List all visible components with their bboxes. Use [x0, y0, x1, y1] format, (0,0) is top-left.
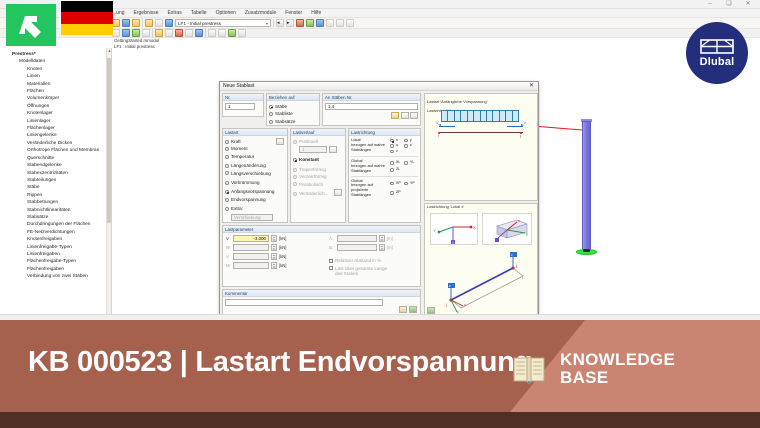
toolbar2-separator-2 — [205, 29, 206, 37]
printpreview-icon[interactable] — [155, 19, 163, 27]
navigator-item[interactable]: Stabendgelenke — [0, 162, 111, 169]
lastrichtung-label: YL — [410, 160, 415, 165]
lastart-options[interactable]: KraftMomentTemperaturLängenänderungLängs… — [223, 136, 287, 222]
beam-segments — [441, 110, 519, 122]
lastverlauf-option[interactable]: Punktuell — [293, 138, 343, 145]
lastparameter-legend: Lastparameter — [223, 226, 420, 233]
lastrichtung-group-2: Global bezogen auf projizierte Stablänge… — [351, 176, 418, 198]
dlubal-logo-badge: Dlubal — [686, 22, 748, 84]
lastparameter-checkbox[interactable]: Last über gesamte Länge des Stabes — [329, 266, 417, 277]
lastart-option[interactable]: Extra: — [225, 205, 285, 212]
lastart-label: Moment — [231, 145, 248, 152]
lastparameter-value-input[interactable] — [233, 253, 269, 260]
lastart-radio-dot — [225, 164, 229, 168]
lastrichtung-radio-dot — [404, 139, 407, 142]
load-direction-caption: Lastrichtung 'Lokal x' — [427, 205, 464, 210]
lastrichtung-radio-dot — [404, 144, 407, 147]
lastverlauf-radio-dot — [293, 175, 297, 179]
lastrichtung-radio-dot — [390, 168, 393, 171]
lastrichtung-caption: Global bezogen auf projizierte Stablänge… — [351, 179, 387, 198]
flag-stripe-black — [61, 1, 113, 12]
lastart-option[interactable]: Längenänderung — [225, 162, 285, 169]
navigator-item[interactable]: Stäbe — [0, 184, 111, 191]
prev-loadcase-icon[interactable]: ◂ — [276, 19, 284, 27]
lastart-label: Längenänderung — [231, 162, 266, 169]
navigator-item[interactable]: Flächenlager — [0, 125, 111, 132]
german-flag-icon — [60, 0, 112, 34]
lastverlauf-group: Lastverlauf Punktuell1KonstantTrapezförm… — [290, 128, 346, 223]
menu-item-0[interactable]: ...ung — [112, 10, 125, 16]
navigator-item[interactable]: Durchdringungen der Flächen — [0, 221, 111, 228]
lastart-label: Vorkrümmung — [231, 179, 260, 186]
kommentar-input[interactable] — [225, 299, 383, 306]
loadcase-select-value: LF1 - Initial prestress — [178, 21, 221, 26]
radio-dot-stabliste — [269, 112, 273, 116]
view-icon[interactable] — [316, 19, 324, 27]
isometric-icon[interactable] — [228, 29, 236, 37]
navigator-item[interactable]: Stabteilungen — [0, 177, 111, 184]
lastverlauf-count-select[interactable]: 1 — [299, 146, 327, 153]
banner-footer-strip — [0, 412, 760, 428]
print-icon[interactable] — [145, 19, 153, 27]
minimize-icon[interactable]: – — [706, 1, 714, 8]
checkbox-box — [329, 266, 333, 270]
lastart-radio-dot — [225, 140, 229, 144]
lastverlauf-option[interactable]: Trapezförmig — [293, 166, 343, 173]
lastparameter-unit: [kN] — [279, 263, 286, 268]
v-label-right: V — [524, 121, 526, 125]
render-icon[interactable] — [296, 19, 304, 27]
navigator-item[interactable]: Öffnungen — [0, 103, 111, 110]
lastrichtung-group-0: Lokal bezogen auf wahre Stablängenxyuzv — [351, 138, 418, 154]
lastparameter-row[interactable]: W▴▾[kN] — [226, 262, 321, 269]
toolbar2-separator — [152, 29, 153, 37]
checkbox-box — [329, 259, 333, 263]
lastart-label: Kraft — [231, 138, 241, 145]
lastrichtung-caption: Lokal bezogen auf wahre Stablängen — [351, 138, 387, 154]
an-staeben-group: An Stäben Nr. 1,4 — [322, 93, 421, 126]
svg-text:Z: Z — [452, 241, 454, 245]
lastart-label: Extra: — [231, 205, 243, 212]
preview-settings-icon[interactable] — [427, 307, 435, 314]
surface-tool-icon[interactable] — [142, 29, 150, 37]
lastverlauf-label: Verzerrförmig — [299, 173, 327, 180]
window-titlebar: – ❑ ✕ — [0, 0, 760, 9]
global-axes-icon: X Y Z — [431, 214, 479, 246]
load-arrow-left-head — [438, 124, 441, 126]
flag-stripe-gold — [61, 24, 113, 35]
lastart-label: Längsverschiebung — [231, 170, 271, 177]
lastrichtung-label: YP — [410, 181, 415, 186]
navigator-item[interactable]: Flächen — [0, 88, 111, 95]
navigator-item[interactable]: Knotenfreigaben — [0, 236, 111, 243]
load-arrows — [439, 125, 523, 130]
member-orientation-icon: i j j z z x — [431, 250, 533, 314]
open-file-icon[interactable] — [122, 19, 130, 27]
beam-segment — [513, 111, 518, 121]
lastart-radio-dot — [225, 207, 229, 211]
book-icon-svg — [512, 354, 546, 384]
lastverlauf-label: Trapezförmig — [299, 166, 326, 173]
checkbox-label: Last über gesamte Länge des Stabes — [335, 266, 387, 277]
lastparameter-distance-row[interactable]: A:▴▾[m] — [329, 235, 417, 242]
snap-icon[interactable] — [336, 19, 344, 27]
beziehen-auf-legend: Beziehen auf — [267, 94, 319, 101]
radio-dot-staebe — [269, 105, 273, 109]
lastrichtung-radio-dot — [390, 191, 393, 194]
lastparameter-symbol: V — [226, 254, 231, 259]
member-orientation-diagram: i j j z z x — [431, 250, 533, 314]
axis-diagram-local: y x — [482, 213, 532, 245]
lastrichtung-radio-dot — [390, 182, 393, 185]
section-tool-icon[interactable] — [195, 29, 203, 37]
lastart-option[interactable]: Moment — [225, 145, 285, 152]
rotate-icon[interactable] — [208, 29, 216, 37]
lastparameter-distances[interactable]: A:▴▾[m]B:▴▾[m] — [329, 235, 417, 253]
lastparameter-spinner[interactable]: ▴▾ — [271, 235, 277, 242]
menu-item-tabelle[interactable]: Tabelle — [191, 10, 207, 16]
lastparameter-distance-symbol: A: — [329, 236, 335, 241]
dimension-tool-icon[interactable] — [185, 29, 193, 37]
svg-text:j: j — [521, 274, 523, 279]
lastart-help-icon[interactable] — [276, 138, 284, 145]
lastverlauf-option[interactable]: Verzerrförmig — [293, 173, 343, 180]
lastparameter-unit: [kN] — [279, 254, 286, 259]
navigator-item[interactable]: Knotenlager — [0, 110, 111, 117]
svg-text:j: j — [515, 263, 517, 268]
lastparameter-unit: [kN] — [279, 236, 286, 241]
lastart-option[interactable]: Endvorspannung — [225, 196, 285, 203]
lastparameter-symbol: W — [226, 263, 231, 268]
local-axes-icon: y x — [483, 214, 533, 246]
lastrichtung-option[interactable]: XL — [390, 159, 402, 166]
lastverlauf-label: Parabolisch — [299, 181, 323, 188]
lastrichtung-option[interactable]: XP — [390, 179, 402, 189]
lastparameter-distance-spinner[interactable]: ▴▾ — [379, 235, 385, 242]
navigator-item[interactable]: Linienlager — [0, 118, 111, 125]
node-tool-icon[interactable] — [122, 29, 130, 37]
lastrichtung-caption: Global bezogen auf wahre Stablängen — [351, 159, 387, 173]
lastrichtung-label: v — [396, 149, 398, 154]
list-icon[interactable] — [410, 112, 418, 119]
zoom-icon[interactable] — [346, 19, 354, 27]
lastparameter-checkboxes[interactable]: Relativer Abstand in %Last über gesamte … — [329, 258, 417, 279]
lastparameter-symbol: W — [226, 245, 231, 250]
lastverlauf-legend: Lastverlauf — [291, 129, 345, 136]
svg-text:X: X — [473, 225, 476, 230]
menu-item-fenster[interactable]: Fenster — [285, 10, 302, 16]
lastparameter-unit: [kN] — [279, 245, 286, 250]
beam-diagram: V V i j — [435, 110, 527, 146]
new-file-icon[interactable] — [112, 19, 120, 27]
lastart-radio-dot — [225, 198, 229, 202]
lastparameter-distance-unit: [m] — [387, 245, 393, 250]
lastparameter-row[interactable]: V-3.000▴▾[kN] — [226, 235, 321, 242]
kb-line-2: BASE — [560, 369, 675, 387]
lastparameter-spinner[interactable]: ▴▾ — [271, 262, 277, 269]
radio-label-stabsaetze: Stabsätze — [275, 118, 295, 125]
radio-stabliste[interactable]: Stabliste — [269, 110, 317, 117]
svg-text:y: y — [526, 231, 528, 236]
nr-input[interactable]: 1 — [225, 103, 255, 110]
lastverlauf-options[interactable]: Punktuell1KonstantTrapezförmigVerzerrför… — [291, 136, 345, 222]
lastart-option[interactable]: Anfangsvorspannung — [225, 188, 285, 195]
navigator-item[interactable]: Linienfreigaben — [0, 251, 111, 258]
menu-item-zusatzmodule[interactable]: Zusatzmodule — [245, 10, 276, 16]
lastverlauf-option[interactable]: Konstant — [293, 156, 343, 163]
menu-item-hilfe[interactable]: Hilfe — [311, 10, 321, 16]
lastrichtung-option[interactable]: YP — [404, 179, 416, 189]
lastrichtung-option[interactable]: z — [404, 143, 416, 148]
model-column — [582, 121, 591, 251]
navigator-item[interactable]: Prestress* — [0, 51, 111, 58]
lastverlauf-label: Veränderlich... — [299, 190, 328, 197]
checkbox-label: Relativer Abstand in % — [335, 258, 381, 264]
next-loadcase-icon[interactable]: ▸ — [286, 19, 294, 27]
svg-text:z: z — [449, 284, 451, 288]
navigator-item[interactable]: Linienfreigabe-Typen — [0, 244, 111, 251]
toolbar-separator — [142, 19, 143, 27]
lastverlauf-variable-edit-icon[interactable] — [334, 189, 342, 196]
open-book-icon — [512, 354, 546, 384]
lastrichtung-options-1[interactable]: XLYLZL — [390, 159, 418, 173]
navigator-item[interactable]: Stabexzentrizitäten — [0, 170, 111, 177]
picture-icon[interactable] — [409, 306, 417, 313]
lastrichtung-radio-dot — [390, 161, 393, 164]
navigator-item[interactable]: FE-Netzverdichtungen — [0, 229, 111, 236]
lastrichtung-radio-dot — [404, 161, 407, 164]
navigator-item[interactable]: Querschnitte — [0, 155, 111, 162]
pan-icon[interactable] — [218, 29, 226, 37]
navigator-item[interactable]: Verbindung von zwei Stäben — [0, 273, 111, 280]
lastrichtung-label: XP — [396, 181, 401, 186]
lastparameter-distance-input[interactable] — [337, 235, 377, 242]
kb-line-1: KNOWLEDGE — [560, 351, 675, 369]
select-icon[interactable] — [112, 29, 120, 37]
lastparameter-distance-spinner[interactable]: ▴▾ — [379, 244, 385, 251]
navigator-item[interactable]: Rippen — [0, 192, 111, 199]
lastart-radio-dot — [225, 181, 229, 185]
navigator-item[interactable]: Flächenfreigaben — [0, 266, 111, 273]
dlubal-truss-icon — [700, 38, 734, 55]
nr-group: Nr. 1 — [222, 93, 264, 117]
chevron-down-icon[interactable]: ▾ — [266, 21, 268, 26]
lastverlauf-radio-dot — [293, 192, 297, 196]
nr-legend: Nr. — [223, 94, 263, 101]
lastparameter-row[interactable]: W▴▾[kN] — [226, 244, 321, 251]
navigator-item[interactable]: Orthotrope Flächen und Membran — [0, 147, 111, 154]
lastverlauf-radio-dot — [293, 168, 297, 172]
lastparameter-distance-unit: [m] — [387, 236, 393, 241]
an-staeben-legend: An Stäben Nr. — [323, 94, 420, 101]
lastrichtung-label: ZP — [396, 190, 401, 195]
lastrichtung-option[interactable]: ZL — [390, 166, 402, 173]
knowledge-base-wordmark: KNOWLEDGE BASE — [560, 351, 675, 387]
arrow-icon — [16, 10, 46, 40]
lastart-radio-dot — [225, 147, 229, 151]
load-arrow-left — [439, 126, 455, 127]
lastart-radio-dot — [225, 155, 229, 159]
beziehen-auf-group: Beziehen auf Stäbe Stabliste Stabsätz — [266, 93, 320, 126]
load-direction-preview: Lastrichtung 'Lokal x' X Y Z — [424, 203, 538, 317]
new-member-load-dialog[interactable]: Neue Stablast ✕ Nr. 1 Beziehen auf — [219, 81, 539, 320]
flag-stripe-red — [61, 12, 113, 23]
lastrichtung-options-0[interactable]: xyuzv — [390, 138, 418, 154]
lastart-radio-dot — [225, 190, 229, 194]
application-window: – ❑ ✕ ...ung Ergebnisse Extras Tabelle O… — [0, 0, 760, 320]
lastrichtung-option[interactable]: YL — [404, 159, 416, 166]
an-staeben-input[interactable]: 1,4 — [325, 103, 418, 110]
lastrichtung-options[interactable]: Lokal bezogen auf wahre StablängenxyuzvG… — [349, 136, 420, 222]
lastrichtung-radio-dot — [390, 139, 393, 142]
lastart-radio-dot — [225, 171, 229, 175]
navigator-item[interactable]: Flächenfreigabe-Typen — [0, 258, 111, 265]
close-icon[interactable]: ✕ — [744, 1, 752, 8]
preview-lastart-line: Lastart 'Anfängliche Vorspannung' — [427, 99, 487, 104]
lastrichtung-group: Lastrichtung Lokal bezogen auf wahre Sta… — [348, 128, 421, 223]
lastrichtung-label: z — [410, 143, 412, 148]
lastverlauf-radio-dot — [293, 140, 297, 144]
lastart-label: Temperatur — [231, 153, 254, 160]
navigator-tree[interactable]: Prestress*ModelldatenKnotenLinienMateria… — [0, 48, 111, 281]
svg-text:Y: Y — [433, 228, 436, 233]
navigator-item[interactable]: Knoten — [0, 66, 111, 73]
lastparameter-symbol: V — [226, 236, 231, 241]
lastart-legend: Lastart — [223, 129, 287, 136]
workspace-loadcase-label: LF1 : Initial prestress — [114, 44, 159, 50]
menu-item-extras[interactable]: Extras — [168, 10, 182, 16]
toolbar-primary: LF1 - Initial prestress ▾ ◂ ▸ — [0, 18, 760, 29]
radio-label-staebe: Stäbe — [275, 103, 287, 110]
support-tool-icon[interactable] — [165, 29, 173, 37]
navigator-scrollbar[interactable]: ▲ ▼ — [106, 48, 111, 320]
member-axis — [439, 132, 523, 133]
menu-item-optionen[interactable]: Optionen — [216, 10, 236, 16]
navigator-item[interactable]: Liniengelenke — [0, 132, 111, 139]
data-navigator: Prestress*ModelldatenKnotenLinienMateria… — [0, 48, 112, 320]
lastart-option[interactable]: Längsverschiebung — [225, 170, 285, 177]
menu-bar: ...ung Ergebnisse Extras Tabelle Optione… — [0, 9, 760, 18]
radio-staebe[interactable]: Stäbe — [269, 103, 317, 110]
menu-item-ergebnisse[interactable]: Ergebnisse — [134, 10, 159, 16]
brand-arrow-logo — [6, 4, 56, 46]
toolbar-secondary — [0, 29, 760, 38]
lastrichtung-options-2[interactable]: XPYPZP — [390, 179, 418, 198]
navigator-item[interactable]: Volumenkörper — [0, 95, 111, 102]
lastart-group: Lastart KraftMomentTemperaturLängenänder… — [222, 128, 288, 223]
load-tool-icon[interactable] — [175, 29, 183, 37]
navigator-item[interactable]: Modelldaten — [0, 58, 111, 65]
navigator-item[interactable]: Materialien — [0, 81, 111, 88]
lastrichtung-group-1: Global bezogen auf wahre StablängenXLYLZ… — [351, 156, 418, 173]
lastrichtung-legend: Lastrichtung — [349, 129, 420, 136]
lastparameter-distance-input[interactable] — [337, 244, 377, 251]
lastparameter-rows[interactable]: V-3.000▴▾[kN]W▴▾[kN]V▴▾[kN]W▴▾[kN] — [226, 235, 321, 271]
dialog-titlebar: Neue Stablast ✕ — [220, 82, 538, 91]
radio-label-stabliste: Stabliste — [275, 110, 293, 117]
lastverlauf-label: Punktuell — [299, 138, 318, 145]
lastparameter-spinner[interactable]: ▴▾ — [271, 253, 277, 260]
lastparameter-spinner[interactable]: ▴▾ — [271, 244, 277, 251]
pick-in-model-icon[interactable] — [391, 112, 399, 119]
radio-stabsaetze[interactable]: Stabsätze — [269, 118, 317, 125]
lastverlauf-radio-dot — [293, 158, 297, 162]
knowledge-base-banner: KB 000523 | Lastart Endvorspannung KNOWL… — [0, 320, 760, 412]
model-support-plate — [583, 249, 590, 252]
lastrichtung-label: ZL — [396, 167, 400, 172]
dialog-close-icon[interactable]: ✕ — [528, 83, 535, 89]
lastverlauf-label: Konstant — [299, 156, 319, 163]
lastart-option[interactable]: Temperatur — [225, 153, 285, 160]
dlubal-wordmark: Dlubal — [700, 56, 735, 68]
lastart-label: Anfangsvorspannung — [231, 188, 274, 195]
save-icon[interactable] — [132, 19, 140, 27]
lastverlauf-radio-dot — [293, 182, 297, 186]
svg-text:x: x — [518, 218, 520, 223]
lastparameter-distance-symbol: B: — [329, 245, 335, 250]
dialog-title: Neue Stablast — [223, 83, 254, 89]
grid-icon[interactable] — [326, 19, 334, 27]
svg-text:x: x — [464, 302, 466, 307]
line-tool-icon[interactable] — [132, 29, 140, 37]
kommentar-group: Kommentar — [222, 289, 421, 317]
magnifier-icon[interactable] — [401, 112, 409, 119]
lastrichtung-option[interactable]: v — [390, 149, 402, 154]
lastparameter-value-input[interactable]: -3.000 — [233, 235, 269, 242]
result-icon[interactable] — [306, 19, 314, 27]
lastparameter-group: Lastparameter V-3.000▴▾[kN]W▴▾[kN]V▴▾[kN… — [222, 225, 421, 287]
svg-text:i: i — [446, 303, 447, 308]
kommentar-legend: Kommentar — [223, 290, 420, 297]
maximize-icon[interactable]: ❑ — [725, 1, 733, 8]
navigator-item[interactable]: Linien — [0, 73, 111, 80]
navigator-item[interactable]: Stabnichtlinearitäten — [0, 207, 111, 214]
note-icon[interactable] — [399, 306, 407, 313]
lastart-extra-select[interactable]: Verschiebung — [231, 214, 273, 221]
load-preview-top: Lastart 'Anfängliche Vorspannung' Lastve… — [424, 93, 538, 201]
navigator-item[interactable]: Veränderliche Dicken — [0, 140, 111, 147]
lastverlauf-edit-icon[interactable] — [329, 146, 337, 153]
lastart-option[interactable]: Vorkrümmung — [225, 179, 285, 186]
lastparameter-row[interactable]: V▴▾[kN] — [226, 253, 321, 260]
lastart-label: Endvorspannung — [231, 196, 266, 203]
lastparameter-value-input[interactable] — [233, 244, 269, 251]
node-j-label: j — [520, 134, 521, 138]
lastrichtung-label: XL — [396, 160, 401, 165]
lastrichtung-radio-dot — [390, 150, 393, 153]
svg-text:z: z — [511, 253, 513, 257]
model-3d-view[interactable] — [512, 93, 742, 293]
lastrichtung-radio-dot — [404, 182, 407, 185]
lastparameter-value-input[interactable] — [233, 262, 269, 269]
workspace-tab-labels: GettingStarted.rsmodul LF1 : Initial pre… — [114, 38, 159, 50]
loadcase-select[interactable]: LF1 - Initial prestress ▾ — [175, 19, 271, 27]
banner-title: KB 000523 | Lastart Endvorspannung — [28, 346, 532, 379]
wireframe-icon[interactable] — [238, 29, 246, 37]
undo-icon[interactable] — [165, 19, 173, 27]
lastverlauf-option[interactable]: Parabolisch — [293, 181, 343, 188]
navigator-item[interactable]: Stabbettungen — [0, 199, 111, 206]
lastrichtung-option[interactable]: ZP — [390, 188, 402, 198]
node-i-label: i — [438, 134, 439, 138]
lastparameter-distance-row[interactable]: B:▴▾[m] — [329, 244, 417, 251]
v-label-left: V — [436, 121, 438, 125]
axis-diagram-global: X Y Z — [430, 213, 478, 245]
member-tool-icon[interactable] — [155, 29, 163, 37]
radio-dot-stabsaetze — [269, 120, 273, 124]
navigator-item[interactable]: Stabsätze — [0, 214, 111, 221]
lastparameter-checkbox[interactable]: Relativer Abstand in % — [329, 258, 417, 264]
